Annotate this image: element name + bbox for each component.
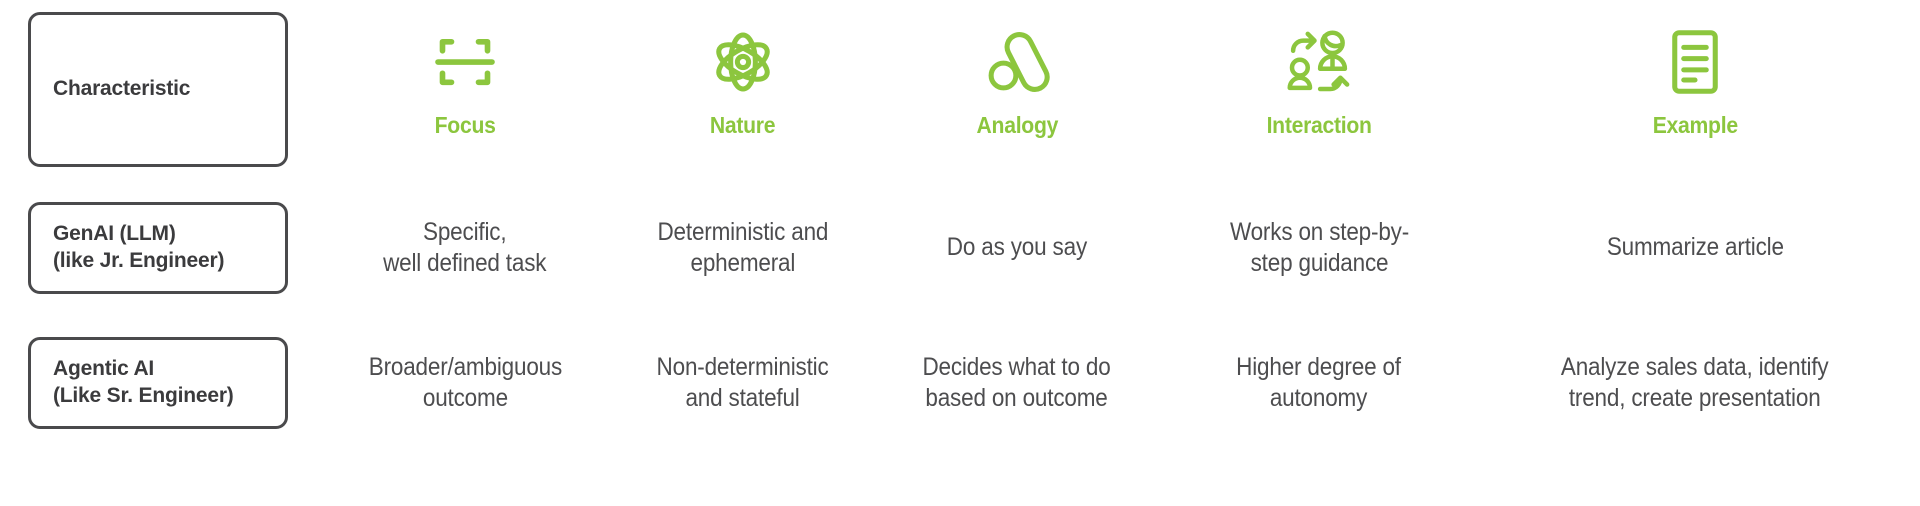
- scan-focus-icon: [429, 26, 501, 98]
- cell-text: Higher degree of autonomy: [1237, 352, 1402, 415]
- column-header-label: Focus: [435, 112, 496, 139]
- cell-text: Deterministic and ephemeral: [658, 217, 829, 280]
- column-header-label: Interaction: [1266, 112, 1371, 139]
- table-grid: Characteristic Focus Nature: [0, 0, 1920, 506]
- cell-agentic-focus: Broader/ambiguous outcome: [310, 318, 620, 448]
- column-header-label: Example: [1652, 112, 1737, 139]
- cell-genai-example: Summarize article: [1470, 178, 1920, 318]
- cell-genai-focus: Specific, well defined task: [310, 178, 620, 318]
- cell-text: Do as you say: [947, 232, 1087, 264]
- characteristic-label: Characteristic: [53, 76, 190, 103]
- cell-agentic-nature: Non-deterministic and stateful: [620, 318, 866, 448]
- cell-text: Decides what to do based on outcome: [923, 352, 1111, 415]
- row-label-cell-agentic: Agentic AI (Like Sr. Engineer): [0, 318, 310, 448]
- cell-text: Works on step-by- step guidance: [1229, 217, 1408, 280]
- column-header-example: Example: [1470, 0, 1920, 178]
- capsule-circle-icon: [981, 26, 1053, 98]
- cell-text: Analyze sales data, identify trend, crea…: [1561, 352, 1829, 415]
- characteristic-label-box: Characteristic: [28, 12, 288, 167]
- cell-agentic-interaction: Higher degree of autonomy: [1168, 318, 1470, 448]
- cell-agentic-analogy: Decides what to do based on outcome: [866, 318, 1168, 448]
- cell-agentic-example: Analyze sales data, identify trend, crea…: [1470, 318, 1920, 448]
- characteristic-header-cell: Characteristic: [0, 0, 310, 178]
- cell-text: Broader/ambiguous outcome: [368, 352, 561, 415]
- genai-vs-agentic-ai-comparison-table: Characteristic Focus Nature: [0, 0, 1920, 506]
- cell-genai-interaction: Works on step-by- step guidance: [1168, 178, 1470, 318]
- atom-icon: [707, 26, 779, 98]
- row-label: Agentic AI (Like Sr. Engineer): [53, 356, 234, 410]
- cell-text: Specific, well defined task: [383, 217, 546, 280]
- column-header-nature: Nature: [620, 0, 866, 178]
- column-header-focus: Focus: [310, 0, 620, 178]
- cell-genai-nature: Deterministic and ephemeral: [620, 178, 866, 318]
- document-lines-icon: [1659, 26, 1731, 98]
- cell-text: Non-deterministic and stateful: [657, 352, 829, 415]
- column-header-interaction: Interaction: [1168, 0, 1470, 178]
- row-label: GenAI (LLM) (like Jr. Engineer): [53, 221, 224, 275]
- agentic-label-box: Agentic AI (Like Sr. Engineer): [28, 337, 288, 429]
- cell-genai-analogy: Do as you say: [866, 178, 1168, 318]
- column-header-label: Nature: [710, 112, 775, 139]
- cell-text: Summarize article: [1607, 232, 1784, 264]
- genai-label-box: GenAI (LLM) (like Jr. Engineer): [28, 202, 288, 294]
- column-header-analogy: Analogy: [866, 0, 1168, 178]
- column-header-label: Analogy: [976, 112, 1058, 139]
- row-label-cell-genai: GenAI (LLM) (like Jr. Engineer): [0, 178, 310, 318]
- bottom-spacer: [0, 448, 1920, 506]
- people-exchange-icon: [1283, 26, 1355, 98]
